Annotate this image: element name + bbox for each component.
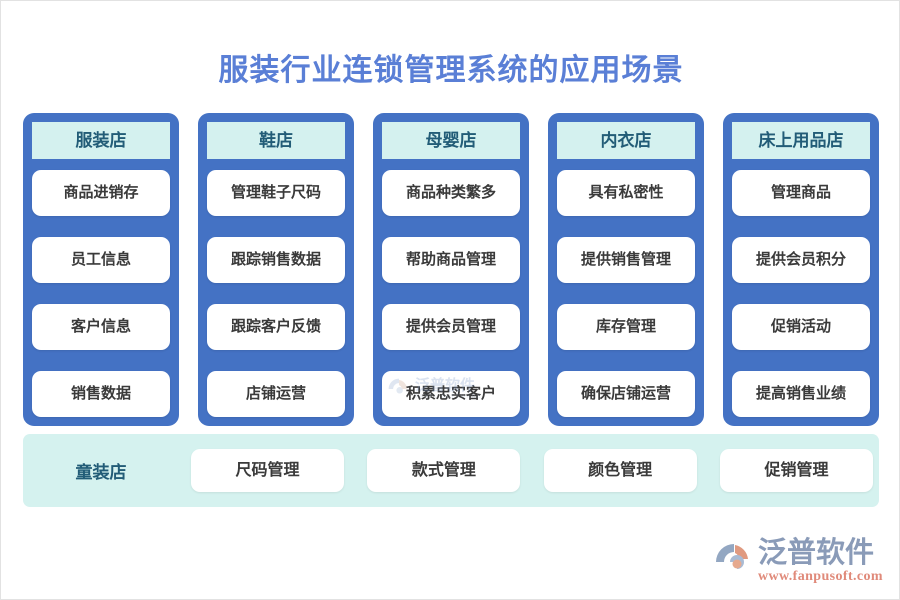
childrenswear-feature-card[interactable]: 款式管理 bbox=[367, 449, 520, 492]
store-feature-card[interactable]: 店铺运营 bbox=[207, 371, 345, 417]
childrenswear-feature-card[interactable]: 促销管理 bbox=[720, 449, 873, 492]
store-feature-card[interactable]: 销售数据 bbox=[32, 371, 170, 417]
childrenswear-feature-card[interactable]: 尺码管理 bbox=[191, 449, 344, 492]
store-column-items: 管理商品 提供会员积分 促销活动 提高销售业绩 bbox=[732, 170, 870, 417]
brand-name: 泛普软件 bbox=[758, 538, 883, 568]
store-column-header: 母婴店 bbox=[382, 122, 520, 159]
store-feature-card[interactable]: 提供会员积分 bbox=[732, 237, 870, 283]
childrenswear-band: 童装店 尺码管理 款式管理 颜色管理 促销管理 bbox=[23, 434, 879, 507]
store-column-underwear[interactable]: 内衣店 具有私密性 提供销售管理 库存管理 确保店铺运营 bbox=[548, 113, 704, 426]
childrenswear-feature-card[interactable]: 颜色管理 bbox=[544, 449, 697, 492]
brand-logo: 泛普软件 www.fanpusoft.com bbox=[713, 538, 883, 585]
store-feature-card[interactable]: 促销活动 bbox=[732, 304, 870, 350]
store-column-header: 内衣店 bbox=[557, 122, 695, 159]
store-columns: 服装店 商品进销存 员工信息 客户信息 销售数据 鞋店 管理鞋子尺码 跟踪销售数… bbox=[23, 113, 879, 426]
store-column-items: 商品种类繁多 帮助商品管理 提供会员管理 积累忠实客户 bbox=[382, 170, 520, 417]
infographic-page: 服装行业连锁管理系统的应用场景 服装店 商品进销存 员工信息 客户信息 销售数据… bbox=[0, 0, 900, 600]
store-feature-card[interactable]: 跟踪销售数据 bbox=[207, 237, 345, 283]
store-feature-card[interactable]: 提高销售业绩 bbox=[732, 371, 870, 417]
store-feature-card[interactable]: 商品进销存 bbox=[32, 170, 170, 216]
page-title: 服装行业连锁管理系统的应用场景 bbox=[1, 45, 900, 89]
store-feature-card[interactable]: 管理商品 bbox=[732, 170, 870, 216]
store-column-header: 服装店 bbox=[32, 122, 170, 159]
store-feature-card[interactable]: 提供销售管理 bbox=[557, 237, 695, 283]
store-feature-card[interactable]: 提供会员管理 bbox=[382, 304, 520, 350]
store-column-clothing[interactable]: 服装店 商品进销存 员工信息 客户信息 销售数据 bbox=[23, 113, 179, 426]
store-feature-card[interactable]: 帮助商品管理 bbox=[382, 237, 520, 283]
store-feature-card[interactable]: 商品种类繁多 bbox=[382, 170, 520, 216]
store-column-header: 床上用品店 bbox=[732, 122, 870, 159]
store-column-header: 鞋店 bbox=[207, 122, 345, 159]
childrenswear-items: 尺码管理 款式管理 颜色管理 促销管理 bbox=[179, 449, 879, 492]
store-feature-card[interactable]: 客户信息 bbox=[32, 304, 170, 350]
store-feature-card[interactable]: 库存管理 bbox=[557, 304, 695, 350]
store-column-items: 具有私密性 提供销售管理 库存管理 确保店铺运营 bbox=[557, 170, 695, 417]
store-feature-card[interactable]: 积累忠实客户 bbox=[382, 371, 520, 417]
store-column-items: 管理鞋子尺码 跟踪销售数据 跟踪客户反馈 店铺运营 bbox=[207, 170, 345, 417]
store-feature-card[interactable]: 管理鞋子尺码 bbox=[207, 170, 345, 216]
store-feature-card[interactable]: 跟踪客户反馈 bbox=[207, 304, 345, 350]
store-column-items: 商品进销存 员工信息 客户信息 销售数据 bbox=[32, 170, 170, 417]
brand-url: www.fanpusoft.com bbox=[758, 569, 883, 585]
store-feature-card[interactable]: 确保店铺运营 bbox=[557, 371, 695, 417]
store-feature-card[interactable]: 员工信息 bbox=[32, 237, 170, 283]
childrenswear-label: 童装店 bbox=[23, 458, 179, 483]
store-column-maternity[interactable]: 母婴店 商品种类繁多 帮助商品管理 提供会员管理 积累忠实客户 bbox=[373, 113, 529, 426]
store-column-shoes[interactable]: 鞋店 管理鞋子尺码 跟踪销售数据 跟踪客户反馈 店铺运营 bbox=[198, 113, 354, 426]
store-column-bedding[interactable]: 床上用品店 管理商品 提供会员积分 促销活动 提高销售业绩 bbox=[723, 113, 879, 426]
store-feature-card[interactable]: 具有私密性 bbox=[557, 170, 695, 216]
fanpu-logo-mark-icon bbox=[713, 540, 753, 580]
